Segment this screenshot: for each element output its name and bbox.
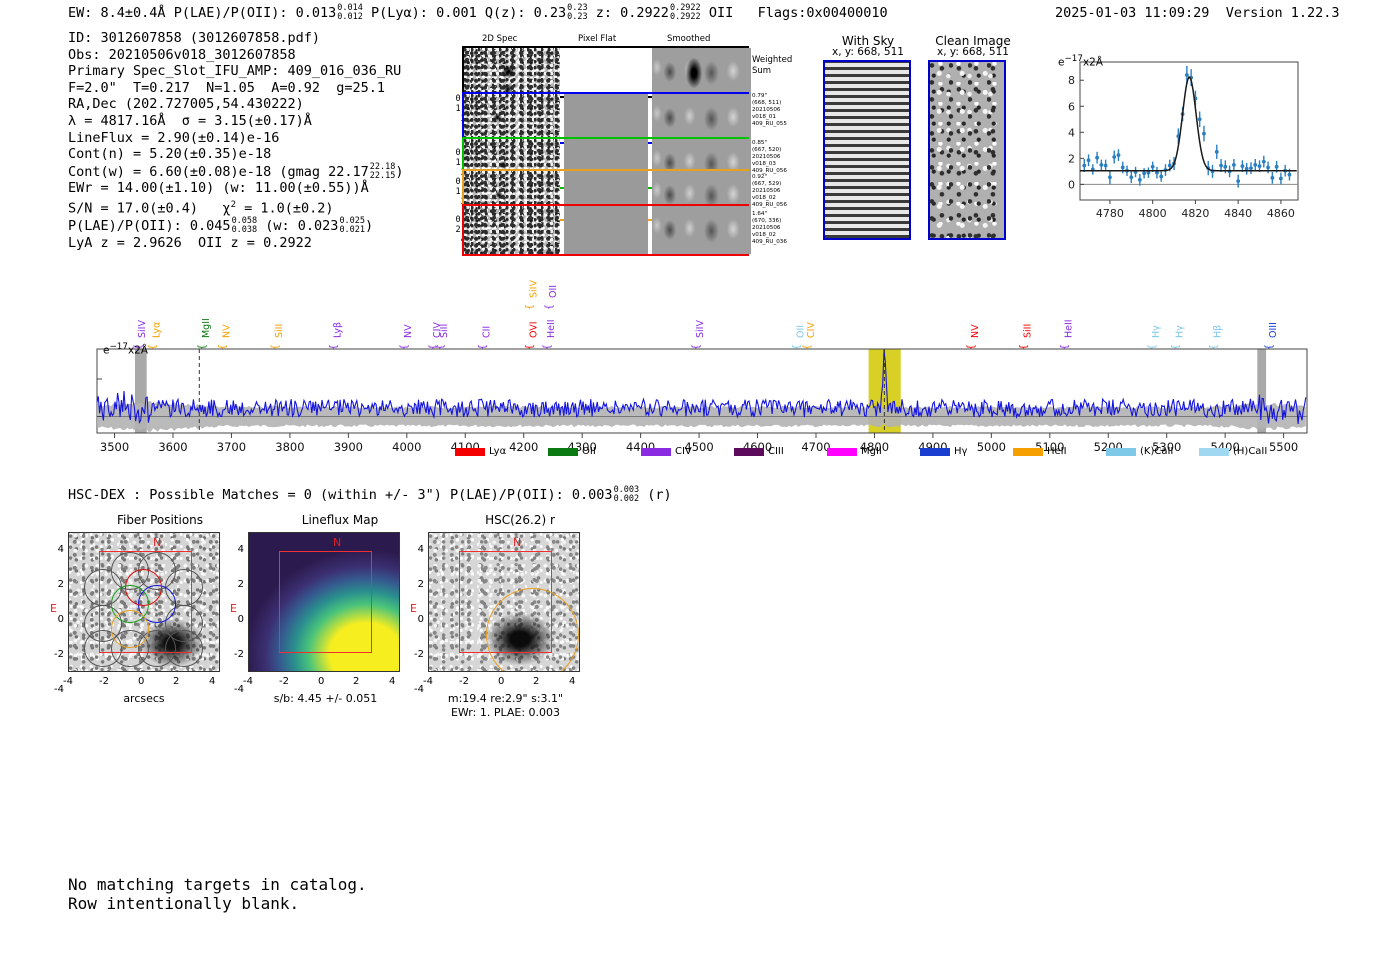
info-contw-lo: 22.15 [370,172,396,181]
svg-text:SiIV: SiIV [137,320,148,338]
info-plae-w-frac: 0.0250.021 [339,217,365,235]
info-lineflux-line: LineFlux = 2.90(±0.14)e-16 [68,130,403,147]
info-plae-text: P(LAE)/P(OII): 0.045 [68,218,231,234]
hsc-caption2: EWr: 1. PLAE: 0.003 [418,706,593,719]
cutout-row-weighted-sum [462,46,749,98]
svg-text:3600: 3600 [158,440,187,453]
hscdex-frac: 0.0030.002 [614,486,640,504]
cutout-pixelflat-weighted [564,48,648,96]
info-plae-w-lo: 0.021 [339,226,365,235]
legend-swatch [641,448,671,456]
svg-text:OIII: OIII [1268,322,1279,338]
svg-text:4000: 4000 [392,440,421,453]
header-flags: Flags:0x00400010 [758,5,888,21]
hscdex-lo: 0.002 [614,495,640,504]
weighted-label: Weighted [752,55,792,66]
header-qz-value: 0.23 [534,5,567,21]
svg-text:3900: 3900 [334,440,363,453]
lineflux-ytick-2: 0 [210,602,244,637]
spectrum-flux-units: e−17x2Å [103,342,148,357]
hsc-xtick-0: -4 [423,676,433,687]
row4-date: 20210506 [752,225,812,232]
lineflux-compass-n: N [333,536,341,549]
info-contw-frac: 22.1822.15 [370,163,396,181]
fiber-xtick-2: 0 [138,676,144,687]
footer-line1: No matching targets in catalog. [68,875,367,894]
info-contn-line: Cont(n) = 5.20(±0.35)e-18 [68,146,403,163]
svg-text:3500: 3500 [100,440,129,453]
header-timestamp-version: 2025-01-03 11:09:29 Version 1.22.3 [1055,5,1340,21]
cutout-title-pixelflat: Pixel Flat [578,34,616,44]
svg-text:NV: NV [222,324,233,338]
fiber-caption: arcsecs [68,692,220,705]
lineflux-xtick-3: 2 [353,676,359,687]
fiber-ytick-3: 2 [30,567,64,602]
lineflux-xtick-0: -4 [243,676,253,687]
svg-text:4: 4 [1068,126,1075,139]
info-seeing-line: F=2.0" T=0.217 N=1.05 A=0.92 g=25.1 [68,80,403,97]
hsc-compass-n: N [513,536,521,549]
info-z-line: LyA z = 2.9626 OII z = 0.2922 [68,235,403,252]
header-z-value: 0.2922 [620,5,669,21]
legend-label: (K)CaII [1140,446,1173,457]
row4-visit: v018_02 [752,232,812,239]
row1-seeing: 0.79" [752,93,812,100]
cutout-smoothed-weighted [652,48,751,96]
withsky-coords: x, y: 668, 511 [818,46,918,58]
hsc-caption: m:19.4 re:2.9" s:3.1" [418,692,593,705]
header-z-suffix: OII [709,5,733,21]
header-version: Version 1.22.3 [1226,5,1340,21]
info-obs-line: Obs: 20210506v018_3012607858 [68,47,403,64]
hsc-yticks: 4 2 0 -2 -4 [390,532,424,707]
legend-label: HeII [1047,446,1067,457]
clean-image[interactable] [928,60,1006,240]
info-plae-line: P(LAE)/P(OII): 0.0450.0580.038 (w: 0.023… [68,217,403,235]
svg-text:Lyβ: Lyβ [333,322,344,338]
svg-text:2: 2 [1068,152,1075,165]
hsc-ytick-2: 0 [390,602,424,637]
fiber-ytick-2: 0 [30,602,64,637]
header-ew: EW: [68,5,92,21]
row3-amp: 409_RU_056 [752,202,812,209]
hsc-xtick-3: 2 [533,676,539,687]
svg-text:NV: NV [403,324,414,338]
header-plae-lo: 0.012 [337,13,363,22]
lineflux-map-title: Lineflux Map [245,513,435,527]
cutout-pixelflat-4 [564,206,648,254]
legend-swatch [1106,448,1136,456]
cutout-title-2dspec: 2D Spec [482,34,517,44]
legend-label: CIV [675,446,692,457]
hscdex-text: HSC-DEX : Possible Matches = 0 (within +… [68,487,613,503]
legend-label: Lyα [489,446,506,457]
lineflux-caption: s/b: 4.45 +/- 0.051 [238,692,413,705]
fiber-positions-image[interactable]: N [68,532,220,672]
svg-text:4800: 4800 [1139,207,1167,220]
hsc-image[interactable]: N [428,532,580,672]
svg-text:8: 8 [1068,74,1075,87]
zoom-chart-flux-units: e−17x2Å [1058,54,1103,69]
legend-swatch [734,448,764,456]
cutout-pixelflat-1 [564,94,648,142]
info-id-line: ID: 3012607858 (3012607858.pdf) [68,30,403,47]
cutout-2dspec-4 [464,206,560,254]
info-contw-line: Cont(w) = 6.60(±0.08)e-18 (gmag 22.1722.… [68,163,403,181]
footer-text: No matching targets in catalog. Row inte… [68,875,367,913]
hsc-ytick-1: -2 [390,637,424,672]
lineflux-yticks: 4 2 0 -2 -4 [210,532,244,707]
legend-label: MgII [861,446,882,457]
row1-amp: 409_RU_055 [752,121,812,128]
fiber-xtick-0: -4 [63,676,73,687]
svg-text:3800: 3800 [275,440,304,453]
row3-xy: (667, 529) [752,181,812,188]
svg-text:6: 6 [1068,100,1075,113]
header-plae-frac: 0.0140.012 [337,4,363,22]
svg-text:Lyα: Lyα [151,322,162,338]
legend-swatch [455,448,485,456]
svg-text:SiII: SiII [439,324,450,338]
svg-text:Hγ: Hγ [1174,325,1185,338]
svg-text:OVI: OVI [528,321,539,338]
lineflux-xtick-2: 0 [318,676,324,687]
info-sn-tail: = 1.0(±0.2) [236,201,334,217]
hsc-ytick-3: 2 [390,567,424,602]
cutout-row-4 [462,204,749,256]
hsc-ytick-4: 4 [390,532,424,567]
header-plya-label: P(Lyα): [371,5,428,21]
svg-text:{: { [544,304,555,310]
info-plae-frac: 0.0580.038 [232,217,258,235]
svg-text:HeII: HeII [546,319,557,338]
legend-label: (H)CaII [1233,446,1267,457]
lineflux-map-image[interactable]: N [248,532,400,672]
fiber-yticks: 4 2 0 -2 -4 [30,532,64,707]
header-z-lo: 0.2922 [670,13,701,22]
row2-seeing: 0.85" [752,140,812,147]
svg-text:MgII: MgII [201,318,212,338]
svg-text:CII: CII [482,326,493,338]
row4-amp: 409_RU_036 [752,239,812,246]
header-plae-value: 0.013 [296,5,337,21]
legend-label: Hγ [954,446,967,457]
svg-text:3700: 3700 [217,440,246,453]
full-spectrum-svg: {SiIV{Lyα{MgII{NV{SiII{Lyβ{NV{CIV{SiII{C… [95,268,1310,453]
svg-text:4840: 4840 [1224,207,1252,220]
zoom-chart-svg: 0246847804800482048404860 [1044,52,1306,232]
svg-text:SiII: SiII [274,324,285,338]
row1-xy: (668, 511) [752,100,812,107]
footer-line2: Row intentionally blank. [68,894,367,913]
row2-date: 20210506 [752,154,812,161]
fiber-ytick-0: -4 [30,672,64,707]
legend-swatch [827,448,857,456]
cutout-smoothed-4 [652,206,751,254]
fiber-ytick-1: -2 [30,637,64,672]
weighted-sum-label: Weighted Sum [752,55,792,76]
svg-text:OII: OII [548,285,559,298]
info-sn-line: S/N = 17.0(±0.4) χ2 = 1.0(±0.2) [68,197,403,217]
hscdex-band: (r) [647,487,671,503]
with-sky-image[interactable] [823,60,911,240]
fiber-positions-title: Fiber Positions [65,513,255,527]
header-z-label: z: [596,5,612,21]
row4-seeing: 1.64" [752,211,812,218]
hsc-xtick-4: 4 [569,676,575,687]
header-z-frac: 0.29220.2922 [670,4,701,22]
svg-text:SiIV: SiIV [695,320,706,338]
cutout-2dspec-1 [464,94,560,142]
header-timestamp: 2025-01-03 11:09:29 [1055,5,1209,21]
cleanimage-coords: x, y: 668, 511 [918,46,1028,58]
info-slot-line: Primary Spec_Slot_IFU_AMP: 409_016_036_R… [68,63,403,80]
svg-text:CIV: CIV [806,322,817,338]
cutout-row-meta-1: 0.79" (668, 511) 20210506 v018_01 409_RU… [752,93,812,128]
hscdex-summary: HSC-DEX : Possible Matches = 0 (within +… [68,486,672,504]
row4-xy: (670, 336) [752,218,812,225]
emission-line-zoom-chart[interactable]: 0246847804800482048404860 e−17x2Å [1044,52,1306,232]
svg-text:Hβ: Hβ [1212,325,1223,338]
svg-text:SiIV: SiIV [528,280,539,298]
fiber-xtick-1: -2 [99,676,109,687]
header-plya-value: 0.001 [436,5,477,21]
legend-swatch [548,448,578,456]
svg-text:5500: 5500 [1269,440,1298,453]
row1-date: 20210506 [752,107,812,114]
source-info-block: ID: 3012607858 (3012607858.pdf) Obs: 202… [68,30,403,251]
fiber-compass-n: N [153,536,161,549]
legend-label: OII [582,446,596,457]
row1-visit: v018_01 [752,114,812,121]
lineflux-ytick-3: 2 [210,567,244,602]
sum-label: Sum [752,66,792,77]
legend-swatch [920,448,950,456]
cutout-row-meta-3: 0.92" (667, 529) 20210506 v018_02 409_RU… [752,174,812,209]
svg-text:SiII: SiII [1022,324,1033,338]
lineflux-ytick-1: -2 [210,637,244,672]
header-ew-value [92,5,100,21]
svg-text:4860: 4860 [1267,207,1295,220]
svg-text:OII: OII [796,325,807,338]
fiber-ytick-4: 4 [30,532,64,567]
header-qz-frac: 0.230.23 [567,4,587,22]
fiber-xtick-3: 2 [173,676,179,687]
hsc-xtick-1: -2 [459,676,469,687]
svg-text:4780: 4780 [1096,207,1124,220]
info-radec-line: RA,Dec (202.727005,54.430222) [68,96,403,113]
header-summary-line: EW: 8.4±0.4Å P(LAE)/P(OII): 0.0130.0140.… [68,4,888,22]
header-qz-lo: 0.23 [567,13,587,22]
hsc-xtick-2: 0 [498,676,504,687]
row2-visit: v018_03 [752,161,812,168]
svg-text:{: { [524,304,535,310]
svg-text:4820: 4820 [1181,207,1209,220]
info-contw-tail: ) [395,164,403,180]
legend-swatch [1199,448,1229,456]
cutout-row-meta-4: 1.64" (670, 336) 20210506 v018_02 409_RU… [752,211,812,246]
header-qz-label: Q(z): [485,5,526,21]
svg-text:4200: 4200 [509,440,538,453]
cutout-title-smoothed: Smoothed [667,34,710,44]
info-plae-tail: ) [365,218,373,234]
header-ew-val: 8.4±0.4Å [101,5,166,21]
header-plae-label: P(LAE)/P(OII): [174,5,288,21]
row3-seeing: 0.92" [752,174,812,181]
row2-xy: (667, 520) [752,147,812,154]
info-plae-mid: (w: 0.023 [257,218,338,234]
svg-text:HeII: HeII [1063,319,1074,338]
legend-swatch [1013,448,1043,456]
info-sn-text: S/N = 17.0(±0.4) χ [68,201,231,217]
legend-label: CIII [768,446,784,457]
cutout-row-meta-2: 0.85" (667, 520) 20210506 v018_03 409_RU… [752,140,812,175]
info-contw-text: Cont(w) = 6.60(±0.08)e-18 (gmag 22.17 [68,164,369,180]
row3-date: 20210506 [752,188,812,195]
svg-text:0: 0 [1068,178,1075,191]
svg-text:Hγ: Hγ [1151,325,1162,338]
row3-visit: v018_02 [752,195,812,202]
lineflux-xtick-1: -2 [279,676,289,687]
hsc-image-title: HSC(26.2) r [425,513,615,527]
lineflux-ytick-4: 4 [210,532,244,567]
info-lambda-line: λ = 4817.16Å σ = 3.15(±0.17)Å [68,113,403,130]
info-plae-lo: 0.038 [232,226,258,235]
cutout-2dspec-weighted [464,48,560,96]
full-spectrum-panel[interactable]: {SiIV{Lyα{MgII{NV{SiII{Lyβ{NV{CIV{SiII{C… [95,268,1310,453]
svg-text:5000: 5000 [977,440,1006,453]
svg-text:NV: NV [970,324,981,338]
info-ewr-line: EWr = 14.00(±1.10) (w: 11.00(±0.55))Å [68,180,403,197]
cutout-smoothed-1 [652,94,751,142]
